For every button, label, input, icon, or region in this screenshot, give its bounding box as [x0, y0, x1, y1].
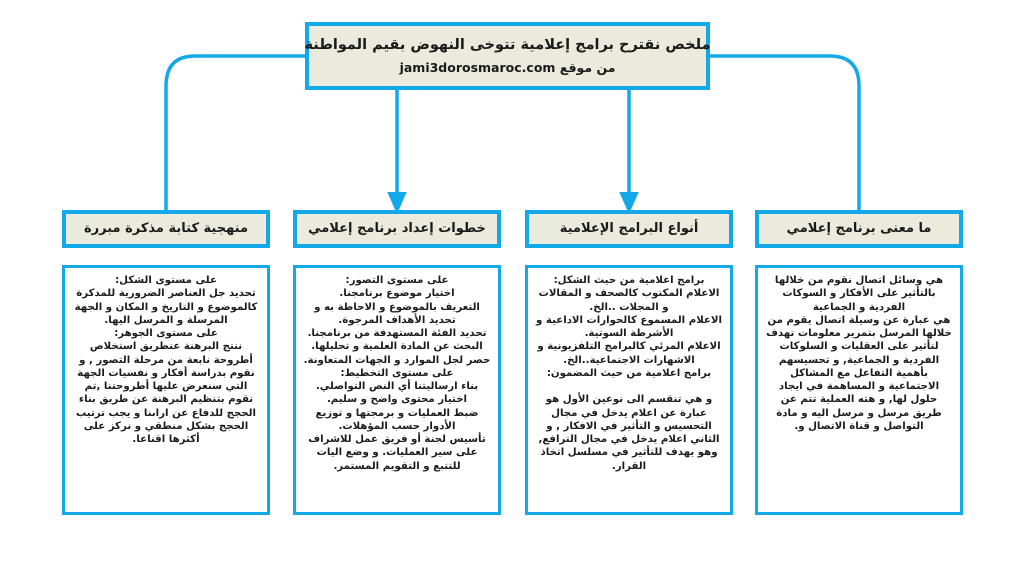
branch-content-steps: على مستوى التصور: اختيار موضوع برنامجنا.… — [293, 265, 501, 515]
branch-header-types[interactable]: أنواع البرامج الإعلامية — [525, 210, 733, 248]
branch-header-label: خطوات إعداد برنامج إعلامي — [308, 221, 486, 237]
connector-to-branch-meaning — [710, 56, 859, 210]
diagram-title-line-2: من موقع jami3dorosmaroc.com — [400, 59, 616, 77]
branch-header-meaning[interactable]: ما معنى برنامج إعلامي — [755, 210, 963, 248]
branch-header-label: أنواع البرامج الإعلامية — [560, 221, 699, 237]
diagram-canvas: ملخص نقترح برامج إعلامية تتوخى النهوض بق… — [0, 0, 1024, 568]
branch-header-steps[interactable]: خطوات إعداد برنامج إعلامي — [293, 210, 501, 248]
branch-content-meaning: هي وسائل اتصال نقوم من خلالها بالتأثير ع… — [755, 265, 963, 515]
branch-content-types: برامج اعلامية من حيث الشكل: الاعلام المك… — [525, 265, 733, 515]
branch-header-memo[interactable]: منهجية كتابة مذكرة مبررة — [62, 210, 270, 248]
branch-content-text: على مستوى التصور: اختيار موضوع برنامجنا.… — [303, 274, 491, 473]
branch-content-text: برامج اعلامية من حيث الشكل: الاعلام المك… — [535, 274, 723, 473]
branch-header-label: منهجية كتابة مذكرة مبررة — [84, 221, 248, 237]
branch-header-label: ما معنى برنامج إعلامي — [787, 221, 932, 237]
branch-content-memo: على مستوى الشكل: تحديد جل العناصر الضرور… — [62, 265, 270, 515]
branch-content-text: هي وسائل اتصال نقوم من خلالها بالتأثير ع… — [765, 274, 953, 433]
branch-content-text: على مستوى الشكل: تحديد جل العناصر الضرور… — [72, 274, 260, 446]
diagram-title-line-1: ملخص نقترح برامج إعلامية تتوخى النهوض بق… — [305, 36, 711, 56]
diagram-title-box: ملخص نقترح برامج إعلامية تتوخى النهوض بق… — [305, 22, 710, 90]
connector-to-branch-memo — [166, 56, 305, 210]
